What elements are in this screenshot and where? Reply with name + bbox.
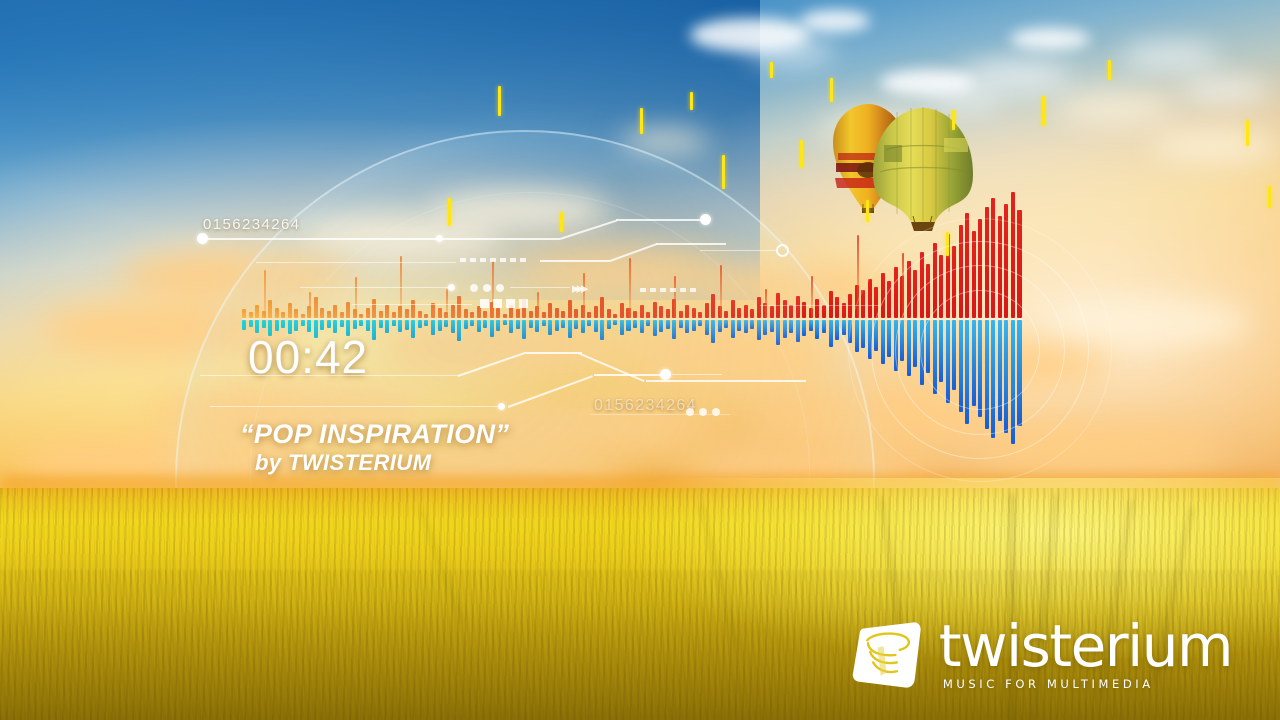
spectrum-bar-upper [887, 281, 891, 319]
spectrum-bar-upper [868, 279, 872, 318]
logo-text-block: twisterium MUSIC FOR MULTIMEDIA [939, 619, 1232, 691]
spectrum-bar-lower [835, 320, 839, 340]
spectrum-bar-upper [548, 303, 552, 318]
spectrum-bar-lower [613, 320, 617, 325]
spectrum-bar-lower [496, 320, 500, 331]
spectrum-bar-lower [607, 320, 611, 329]
spectrum-bar-lower [327, 320, 331, 328]
spectrum-bar-upper [1004, 204, 1008, 318]
spectrum-bar-upper [737, 308, 741, 319]
spectrum-bar-lower [411, 320, 415, 338]
spectrum-bar-lower [998, 320, 1002, 421]
spectrum-bar-upper [926, 264, 930, 318]
spectrum-bar-upper [985, 207, 989, 318]
spectrum-bar-lower [672, 320, 676, 339]
spectrum-bar-lower [281, 320, 285, 328]
spectrum-bar-lower [829, 320, 833, 347]
spectrum-bar-upper [607, 309, 611, 318]
spectrum-bar-lower [405, 320, 409, 330]
spectrum-bar-upper [457, 296, 461, 319]
spectrum-bar-upper [464, 309, 468, 318]
spectrum-bar-lower [881, 320, 885, 364]
spectrum-bar-lower [457, 320, 461, 341]
spectrum-bar-lower [1004, 320, 1008, 433]
spectrum-bar-upper [346, 302, 350, 319]
spectrum-bar-lower [424, 320, 428, 326]
spectrum-bar-lower [516, 320, 520, 329]
spectrum-bar-lower [542, 320, 546, 326]
spectrum-bar-upper [620, 303, 624, 318]
spectrum-peak-spike [674, 276, 676, 319]
spectrum-bar-upper [705, 303, 709, 318]
spectrum-bar-upper [685, 305, 689, 319]
spectrum-bar-lower [385, 320, 389, 333]
spectrum-bar-lower [848, 320, 852, 343]
spectrum-peak-spike [309, 292, 311, 318]
spectrum-peak-spike [492, 261, 494, 319]
spectrum-bar-lower [372, 320, 376, 340]
spectrum-bar-lower [874, 320, 878, 351]
spectrum-bar-lower [868, 320, 872, 359]
spectrum-bar-lower [861, 320, 865, 348]
spectrum-bar-upper [881, 273, 885, 318]
spectrum-bar-upper [340, 312, 344, 318]
spectrum-bar-lower [978, 320, 982, 417]
spectrum-bar-lower [561, 320, 565, 328]
spectrum-bar-lower [933, 320, 937, 394]
spectrum-bar-upper [750, 309, 754, 318]
spectrum-bar-upper [477, 306, 481, 318]
spectrum-peak-spike [355, 277, 357, 318]
cloud [930, 88, 1000, 108]
spectrum-bar-upper [998, 216, 1002, 318]
spectrum-bar-upper [789, 305, 793, 319]
spectrum-bar-upper [411, 300, 415, 318]
spectrum-bar-upper [835, 297, 839, 318]
spectrum-bar-upper [242, 309, 246, 318]
spectrum-bar-upper [1011, 192, 1015, 318]
spectrum-peak-spike [400, 256, 402, 318]
spectrum-bars [242, 186, 1024, 446]
spectrum-bar-lower [959, 320, 963, 412]
spectrum-bar-upper [829, 291, 833, 318]
spectrum-bar-upper [294, 309, 298, 318]
spectrum-bar-upper [744, 305, 748, 319]
twisterium-logo: twisterium MUSIC FOR MULTIMEDIA [851, 618, 1232, 692]
spectrum-bar-lower [529, 320, 533, 328]
spectrum-bar-upper [679, 311, 683, 319]
spectrum-bar-upper [874, 287, 878, 319]
spectrum-bar-lower [431, 320, 435, 335]
spectrum-bar-lower [796, 320, 800, 342]
playback-timecode: 00:42 [248, 330, 368, 384]
spectrum-bar-lower [952, 320, 956, 390]
spectrum-bar-lower [685, 320, 689, 333]
spectrum-bar-lower [353, 320, 357, 329]
spectrum-bar-upper [516, 309, 520, 318]
spectrum-bar-lower [626, 320, 630, 331]
spectrum-bar-upper [933, 243, 937, 318]
spectrum-peak-spike [902, 253, 904, 318]
spectrum-bar-upper [861, 290, 865, 319]
spectrum-bar-upper [640, 305, 644, 319]
spectrum-bar-lower [737, 320, 741, 331]
spectrum-bar-upper [822, 305, 826, 319]
spectrum-bar-lower [679, 320, 683, 328]
spectrum-bar-lower [659, 320, 663, 332]
cloud [1120, 42, 1220, 68]
spectrum-bar-upper [659, 306, 663, 318]
spectrum-bar-lower [359, 320, 363, 326]
spectrum-bar-lower [939, 320, 943, 382]
spectrum-bar-upper [379, 311, 383, 319]
cloud [1050, 300, 1250, 346]
spectrum-bar-lower [464, 320, 468, 329]
spectrum-bar-upper [613, 314, 617, 319]
spectrum-bar-upper [952, 246, 956, 318]
spectrum-bar-upper [431, 303, 435, 318]
spectrum-bar-upper [424, 314, 428, 319]
spectrum-peak-spike [811, 276, 813, 319]
spectrum-bar-lower [666, 320, 670, 329]
spectrum-bar-lower [568, 320, 572, 338]
spectrum-bar-lower [822, 320, 826, 333]
spectrum-bar-upper [731, 300, 735, 318]
spectrum-bar-lower [946, 320, 950, 403]
spectrum-bar-lower [249, 320, 253, 327]
spectrum-bar-lower [620, 320, 624, 335]
spectrum-bar-upper [815, 299, 819, 319]
spectrum-bar-upper [451, 305, 455, 319]
audio-spectrum-visualizer [242, 186, 1024, 446]
spectrum-bar-upper [366, 308, 370, 319]
spectrum-bar-upper [268, 300, 272, 318]
spectrum-bar-upper [587, 312, 591, 318]
spectrum-bar-upper [405, 309, 409, 318]
spectrum-bar-upper [320, 308, 324, 319]
spectrum-bar-upper [301, 314, 305, 319]
spectrum-bar-lower [555, 320, 559, 331]
spectrum-bar-lower [451, 320, 455, 333]
spectrum-bar-upper [288, 303, 292, 318]
spectrum-peak-spike [583, 273, 585, 319]
logo-wordmark: twisterium [939, 619, 1232, 674]
spectrum-bar-upper [574, 309, 578, 318]
spectrum-bar-lower [757, 320, 761, 340]
spectrum-bar-upper [848, 294, 852, 318]
spectrum-bar-lower [692, 320, 696, 331]
spectrum-bar-upper [385, 305, 389, 319]
spectrum-bar-upper [438, 308, 442, 319]
spectrum-bar-lower [509, 320, 513, 333]
spectrum-bar-lower [640, 320, 644, 333]
spectrum-bar-upper [802, 302, 806, 319]
spectrum-bar-upper [1017, 210, 1021, 318]
spectrum-bar-lower [392, 320, 396, 326]
spectrum-peak-spike [446, 289, 448, 318]
spectrum-bar-lower [907, 320, 911, 376]
spectrum-bar-lower [581, 320, 585, 333]
spectrum-bar-upper [542, 312, 546, 318]
spectrum-bar-upper [972, 231, 976, 318]
spectrum-peak-spike [537, 292, 539, 318]
visualizer-stage: 0156234264 0156234264 ▸▸▸ [0, 0, 1280, 720]
spectrum-bar-lower [900, 320, 904, 361]
spectrum-bar-upper [978, 219, 982, 318]
spectrum-bar-lower [913, 320, 917, 367]
spectrum-bar-upper [692, 308, 696, 319]
track-artist: by TWISTERIUM [255, 450, 431, 476]
spectrum-bar-upper [327, 311, 331, 319]
cloud [1055, 95, 1175, 123]
spectrum-bar-lower [301, 320, 305, 326]
spectrum-bar-lower [633, 320, 637, 328]
track-title: “POP INSPIRATION” [240, 419, 509, 450]
spectrum-bar-lower [646, 320, 650, 326]
spectrum-bar-lower [750, 320, 754, 329]
spectrum-bar-lower [815, 320, 819, 339]
spectrum-bar-lower [522, 320, 526, 339]
spectrum-bar-lower [535, 320, 539, 332]
spectrum-bar-upper [600, 297, 604, 318]
cloud [1180, 78, 1270, 102]
spectrum-peak-spike [857, 235, 859, 318]
spectrum-bar-lower [894, 320, 898, 371]
spectrum-bar-lower [653, 320, 657, 336]
spectrum-bar-upper [314, 297, 318, 318]
spectrum-bar-lower [855, 320, 859, 352]
spectrum-bar-upper [418, 311, 422, 319]
spectrum-bar-lower [574, 320, 578, 329]
cloud [820, 115, 930, 141]
spectrum-bar-lower [744, 320, 748, 333]
spectrum-bar-upper [894, 267, 898, 318]
spectrum-bar-lower [711, 320, 715, 343]
spectrum-bar-lower [587, 320, 591, 326]
spectrum-bar-lower [379, 320, 383, 328]
spectrum-bar-lower [294, 320, 298, 331]
spectrum-bar-lower [724, 320, 728, 328]
cloud [1010, 28, 1090, 50]
spectrum-bar-upper [255, 305, 259, 319]
spectrum-bar-lower [483, 320, 487, 328]
spectrum-bar-lower [770, 320, 774, 332]
spectrum-bar-lower [503, 320, 507, 325]
spectrum-bar-upper [594, 306, 598, 318]
spectrum-bar-upper [959, 225, 963, 318]
spectrum-bar-lower [477, 320, 481, 332]
spectrum-bar-lower [763, 320, 767, 335]
spectrum-bar-lower [398, 320, 402, 332]
spectrum-bar-upper [249, 312, 253, 318]
spectrum-bar-lower [548, 320, 552, 335]
spectrum-bar-lower [444, 320, 448, 327]
spectrum-bar-lower [920, 320, 924, 385]
spectrum-bar-lower [262, 320, 266, 328]
spectrum-bar-lower [600, 320, 604, 340]
spectrum-peak-spike [765, 289, 767, 318]
spectrum-bar-upper [666, 309, 670, 318]
spectrum-bar-lower [1017, 320, 1021, 426]
spectrum-bar-lower [842, 320, 846, 335]
spectrum-bar-lower [789, 320, 793, 333]
spectrum-bar-lower [809, 320, 813, 331]
spectrum-peak-spike [720, 265, 722, 318]
spectrum-bar-upper [711, 294, 715, 318]
spectrum-bar-lower [705, 320, 709, 335]
spectrum-bar-upper [281, 312, 285, 318]
spectrum-bar-lower [242, 320, 246, 330]
spectrum-bar-upper [939, 255, 943, 318]
spectrum-bar-lower [926, 320, 930, 373]
spectrum-bar-upper [483, 311, 487, 319]
cloud [745, 38, 835, 64]
spectrum-bar-upper [796, 296, 800, 319]
spectrum-bar-lower [320, 320, 324, 330]
spectrum-bar-upper [529, 311, 533, 319]
cloud [1150, 130, 1280, 162]
spectrum-bar-upper [770, 306, 774, 318]
spectrum-bar-lower [887, 320, 891, 357]
spectrum-bar-upper [496, 308, 500, 319]
spectrum-bar-lower [698, 320, 702, 326]
spectrum-bar-lower [418, 320, 422, 328]
spectrum-bar-upper [522, 299, 526, 319]
spectrum-bar-upper [946, 234, 950, 318]
spectrum-bar-upper [633, 311, 637, 319]
spectrum-bar-lower [965, 320, 969, 424]
spiral-disc-icon [851, 618, 925, 692]
spectrum-bar-lower [438, 320, 442, 331]
spectrum-bar-upper [359, 314, 363, 319]
spectrum-bar-upper [965, 213, 969, 318]
spectrum-bar-upper [555, 308, 559, 319]
spectrum-bar-upper [842, 303, 846, 318]
cloud [800, 10, 870, 32]
spectrum-bar-upper [653, 302, 657, 319]
spectrum-bar-upper [568, 300, 572, 318]
spectrum-bar-upper [776, 293, 780, 319]
logo-tagline: MUSIC FOR MULTIMEDIA [943, 677, 1232, 691]
spectrum-bar-upper [509, 305, 513, 319]
spectrum-bar-upper [991, 198, 995, 318]
spectrum-bar-lower [783, 320, 787, 338]
spectrum-bar-lower [991, 320, 995, 438]
spectrum-bar-upper [698, 312, 702, 318]
spectrum-bar-upper [372, 299, 376, 319]
spectrum-bar-upper [913, 270, 917, 318]
spectrum-peak-spike [629, 258, 631, 319]
spectrum-bar-upper [757, 297, 761, 318]
spectrum-bar-lower [340, 320, 344, 327]
spectrum-bar-lower [776, 320, 780, 345]
spectrum-bar-lower [718, 320, 722, 332]
spectrum-bar-upper [503, 314, 507, 319]
spectrum-bar-upper [783, 300, 787, 318]
spectrum-bar-upper [724, 311, 728, 319]
spectrum-bar-lower [802, 320, 806, 336]
spectrum-bar-upper [275, 308, 279, 319]
spectrum-bar-lower [972, 320, 976, 406]
spectrum-bar-upper [920, 252, 924, 318]
spectrum-bar-lower [731, 320, 735, 338]
spectrum-bar-upper [333, 305, 337, 319]
spectrum-bar-upper [470, 312, 474, 318]
spectrum-bar-lower [470, 320, 474, 326]
cloud [960, 60, 1070, 90]
spectrum-bar-lower [985, 320, 989, 429]
spectrum-bar-upper [561, 311, 565, 319]
spectrum-bar-lower [490, 320, 494, 337]
spectrum-bar-lower [594, 320, 598, 332]
spectrum-bar-upper [646, 312, 650, 318]
spectrum-bar-upper [907, 261, 911, 318]
spectrum-peak-spike [264, 270, 266, 319]
spectrum-bar-lower [1011, 320, 1015, 444]
spectrum-bar-upper [392, 312, 396, 318]
